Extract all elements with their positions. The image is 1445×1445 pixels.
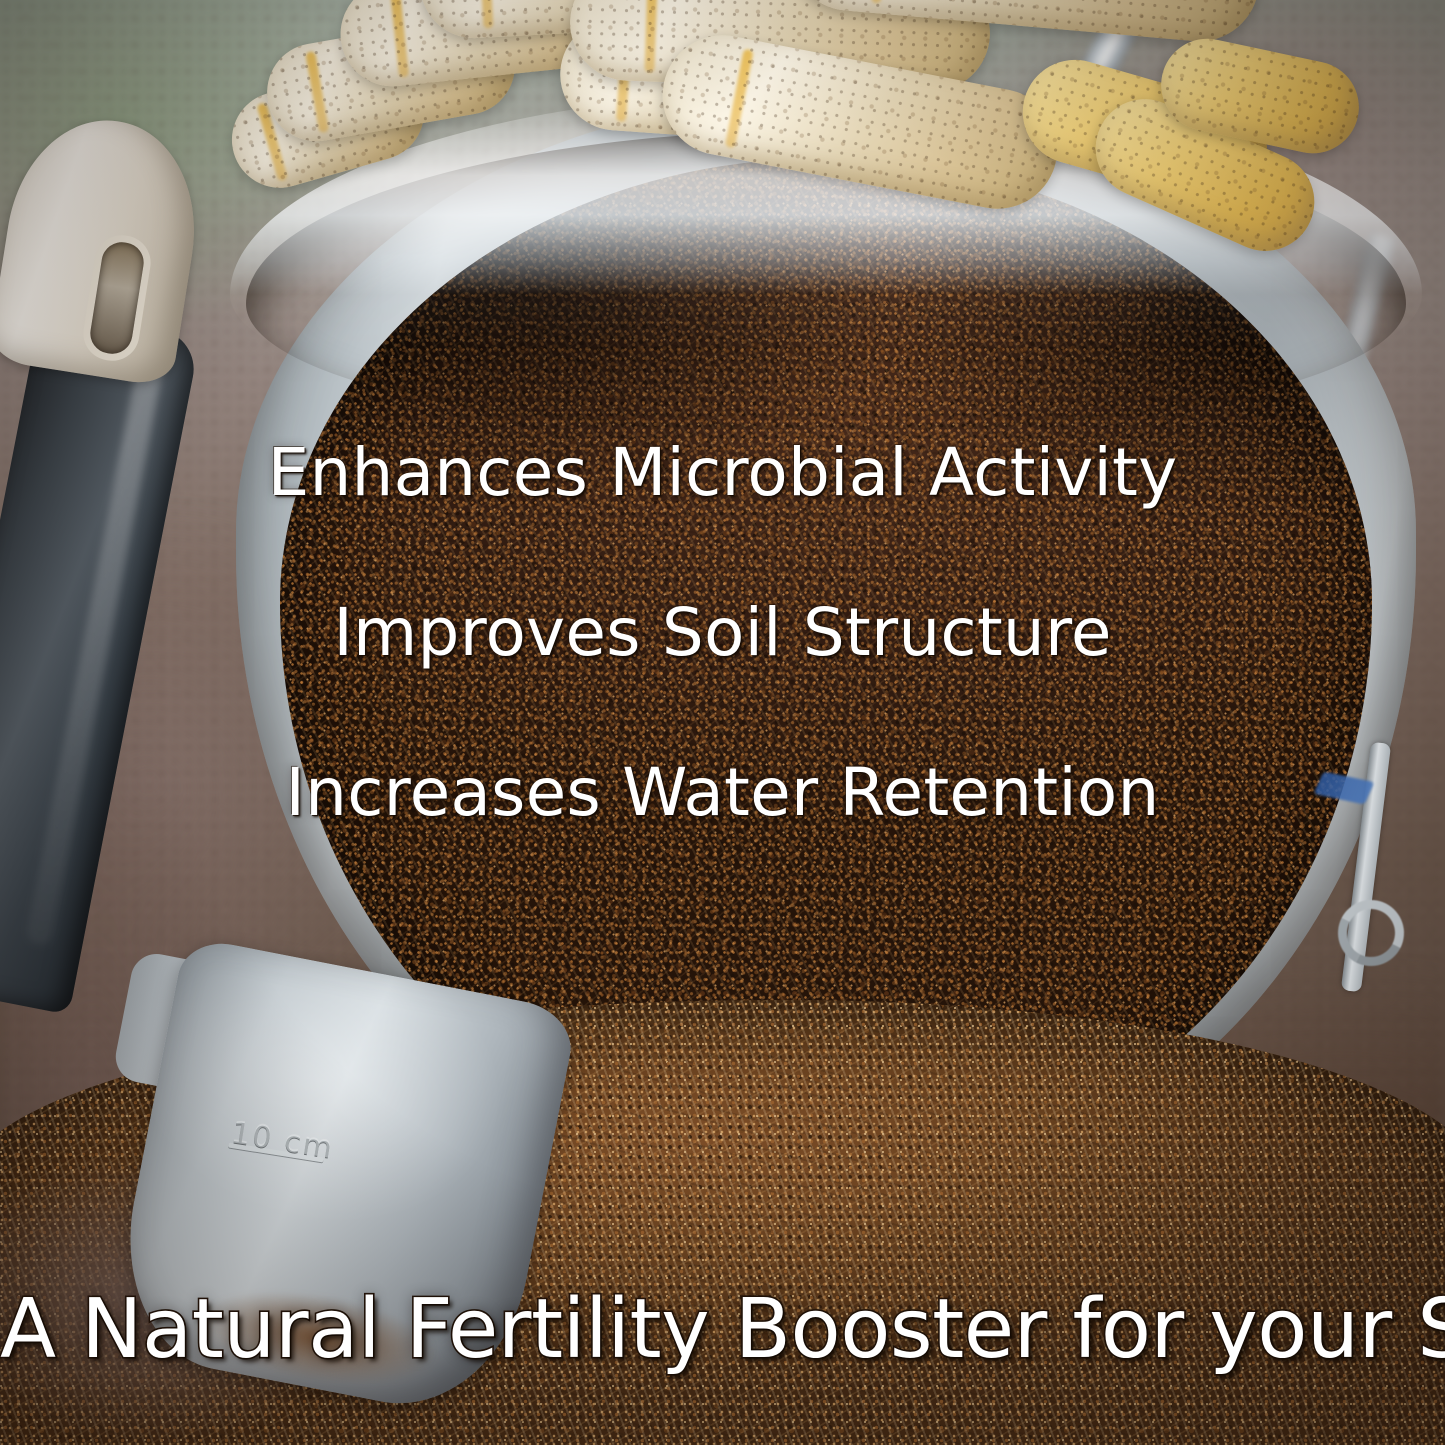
- garden-trowel: 10 cm: [0, 110, 560, 1290]
- promotional-image: 10 cm Enhances Microbial Activity Improv…: [0, 0, 1445, 1445]
- gardening-gloves: [230, 0, 1335, 260]
